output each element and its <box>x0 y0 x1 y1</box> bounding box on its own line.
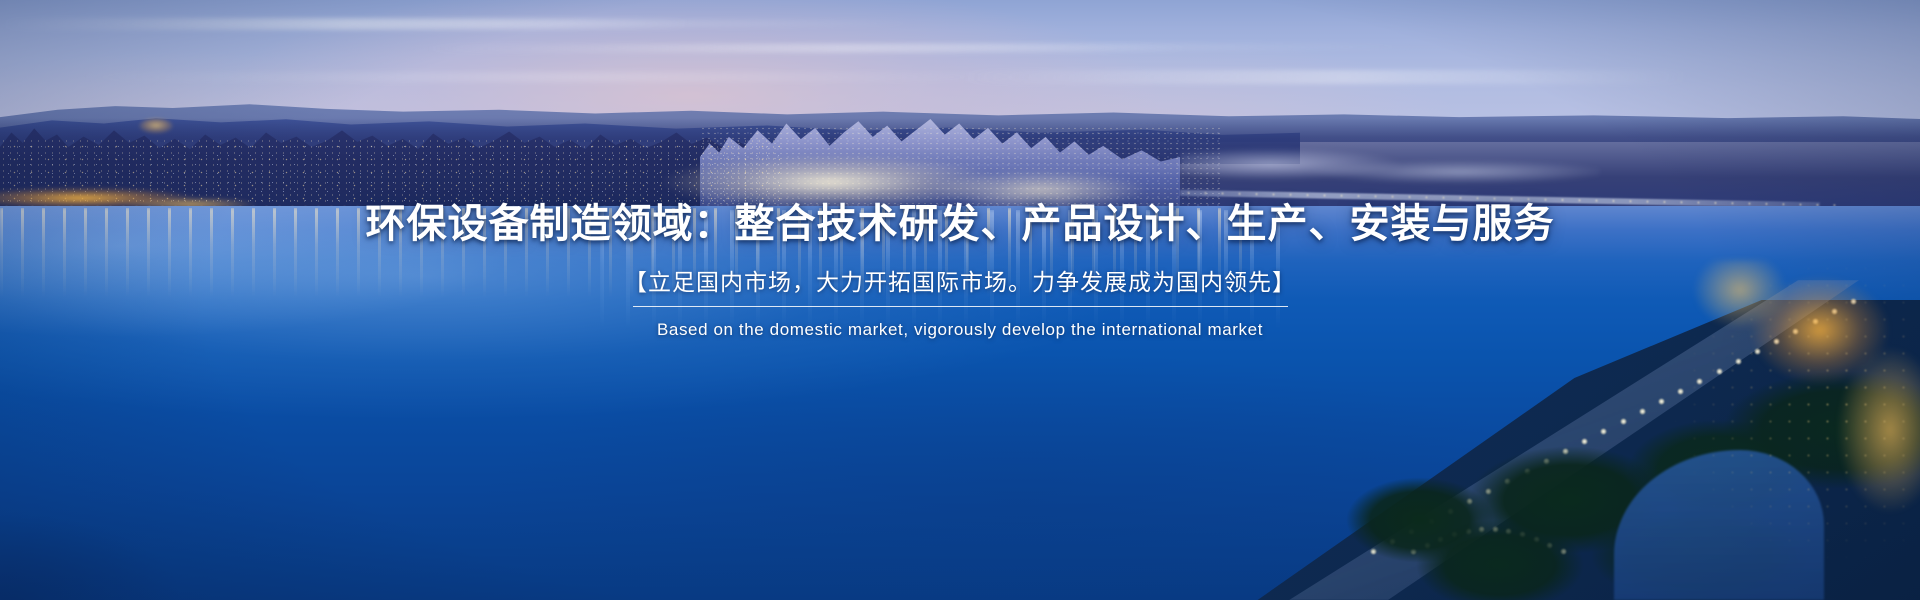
banner-text-overlay: 环保设备制造领域：整合技术研发、产品设计、生产、安装与服务 【立足国内市场，大力… <box>0 0 1920 600</box>
text-divider <box>633 306 1288 307</box>
banner-headline: 环保设备制造领域：整合技术研发、产品设计、生产、安装与服务 <box>366 198 1555 250</box>
banner-english-tagline: Based on the domestic market, vigorously… <box>657 318 1263 342</box>
banner-subheadline: 【立足国内市场，大力开拓国际市场。力争发展成为国内领先】 <box>624 266 1296 298</box>
hero-banner: 环保设备制造领域：整合技术研发、产品设计、生产、安装与服务 【立足国内市场，大力… <box>0 0 1920 600</box>
